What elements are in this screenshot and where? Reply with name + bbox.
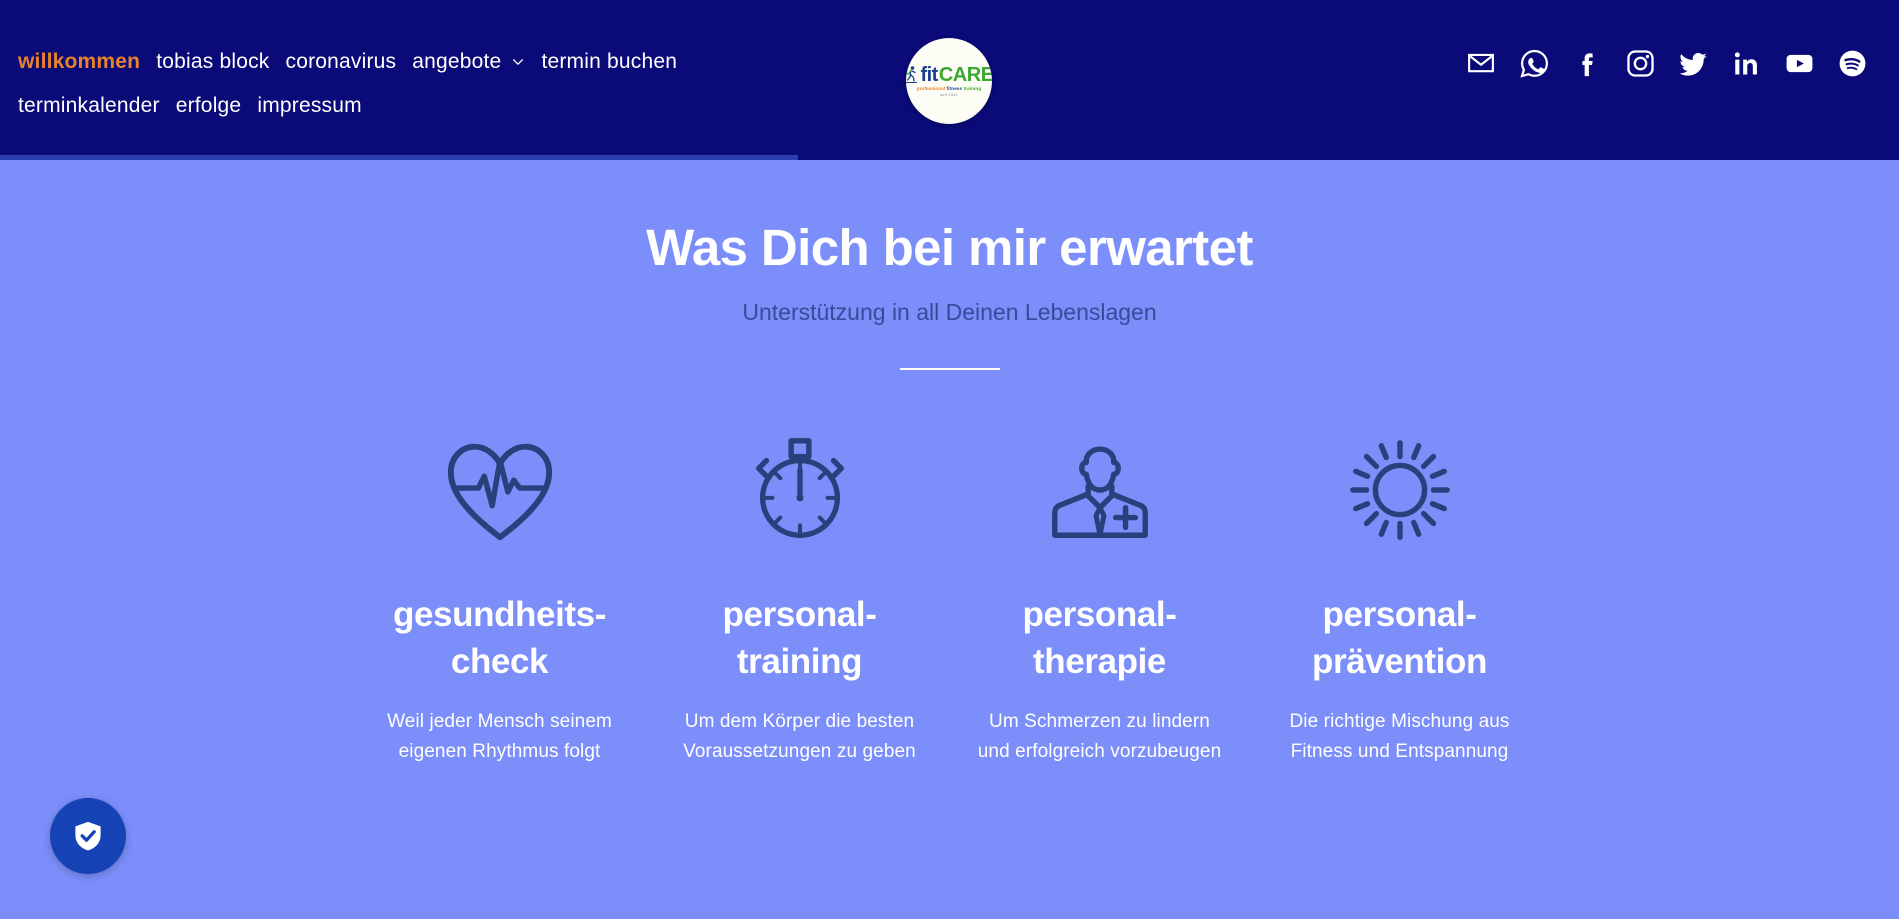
service-card-desc-line2: Fitness und Entspannung <box>1258 737 1542 767</box>
whatsapp-icon[interactable] <box>1517 46 1551 80</box>
service-card-personaltherapie[interactable]: personal- therapie Um Schmerzen zu linde… <box>950 420 1250 767</box>
logo-tagline-word1: professional <box>917 86 946 91</box>
top-navbar: willkommen tobias block coronavirus ange… <box>0 0 1899 160</box>
chevron-down-icon <box>511 55 525 69</box>
logo-content: fitCARE professional fitness training se… <box>910 65 988 98</box>
service-card-desc-line2: und erfolgreich vorzubeugen <box>958 737 1242 767</box>
service-card-title: personal- training <box>658 592 942 685</box>
social-links <box>1464 46 1869 80</box>
stopwatch-icon <box>658 420 942 560</box>
nav-link-angebote-label: angebote <box>412 40 501 84</box>
service-card-title-line1: personal- <box>658 592 942 639</box>
linkedin-icon[interactable] <box>1729 46 1763 80</box>
service-card-desc-line1: Weil jeder Mensch seinem <box>358 707 642 737</box>
service-card-desc-line1: Die richtige Mischung aus <box>1258 707 1542 737</box>
service-card-title: personal- therapie <box>958 592 1242 685</box>
service-card-personaltraining[interactable]: personal- training Um dem Körper die bes… <box>650 420 950 767</box>
email-icon[interactable] <box>1464 46 1498 80</box>
page-title: Was Dich bei mir erwartet <box>0 218 1899 277</box>
sun-icon <box>1258 420 1542 560</box>
service-card-description: Die richtige Mischung aus Fitness und En… <box>1258 707 1542 767</box>
title-divider <box>900 368 1000 370</box>
facebook-icon[interactable] <box>1570 46 1604 80</box>
heart-pulse-icon <box>358 420 642 560</box>
service-card-personalpraevention[interactable]: personal- prävention Die richtige Mischu… <box>1250 420 1550 767</box>
service-card-title: gesundheits- check <box>358 592 642 685</box>
logo-wordmark: fitCARE <box>910 65 988 85</box>
service-card-title-line1: personal- <box>1258 592 1542 639</box>
service-card-title-line1: gesundheits- <box>358 592 642 639</box>
spotify-icon[interactable] <box>1835 46 1869 80</box>
service-card-title-line2: training <box>658 639 942 686</box>
service-card-description: Weil jeder Mensch seinem eigenen Rhythmu… <box>358 707 642 767</box>
service-card-desc-line2: Voraussetzungen zu geben <box>658 737 942 767</box>
youtube-icon[interactable] <box>1782 46 1816 80</box>
service-card-title-line2: therapie <box>958 639 1242 686</box>
nav-link-erfolge[interactable]: erfolge <box>176 84 242 128</box>
logo-text-fit: fit <box>920 65 937 85</box>
runner-icon <box>906 65 919 85</box>
service-card-title-line2: prävention <box>1258 639 1542 686</box>
service-card-gesundheitscheck[interactable]: gesundheits- check Weil jeder Mensch sei… <box>350 420 650 767</box>
nav-link-tobias-block[interactable]: tobias block <box>156 40 269 84</box>
page-subtitle: Unterstützung in all Deinen Lebenslagen <box>0 299 1899 326</box>
logo-tagline-word3: training <box>964 86 982 91</box>
nav-link-angebote[interactable]: angebote <box>412 40 525 84</box>
service-card-title-line1: personal- <box>958 592 1242 639</box>
service-card-desc-line1: Um dem Körper die besten <box>658 707 942 737</box>
logo-tagline-word2: fitness <box>947 86 963 91</box>
site-logo[interactable]: fitCARE professional fitness training se… <box>906 38 992 124</box>
service-cards: gesundheits- check Weil jeder Mensch sei… <box>0 420 1899 767</box>
nav-link-willkommen[interactable]: willkommen <box>18 40 140 84</box>
nav-link-impressum[interactable]: impressum <box>257 84 361 128</box>
nav-link-terminkalender[interactable]: terminkalender <box>18 84 160 128</box>
service-card-title: personal- prävention <box>1258 592 1542 685</box>
service-card-desc-line1: Um Schmerzen zu lindern <box>958 707 1242 737</box>
service-card-description: Um Schmerzen zu lindern und erfolgreich … <box>958 707 1242 767</box>
main-content: Was Dich bei mir erwartet Unterstützung … <box>0 160 1899 919</box>
nav-link-termin-buchen[interactable]: termin buchen <box>541 40 677 84</box>
twitter-icon[interactable] <box>1676 46 1710 80</box>
service-card-description: Um dem Körper die besten Voraussetzungen… <box>658 707 942 767</box>
shield-check-icon <box>70 818 106 854</box>
service-card-desc-line2: eigenen Rhythmus folgt <box>358 737 642 767</box>
instagram-icon[interactable] <box>1623 46 1657 80</box>
nav-link-coronavirus[interactable]: coronavirus <box>286 40 397 84</box>
primary-navigation: willkommen tobias block coronavirus ange… <box>18 30 808 128</box>
service-card-title-line2: check <box>358 639 642 686</box>
logo-established: seit 2001 <box>910 93 988 97</box>
doctor-icon <box>958 420 1242 560</box>
logo-text-care: CARE <box>939 65 992 85</box>
logo-tagline: professional fitness training <box>910 87 988 92</box>
privacy-consent-button[interactable] <box>50 798 126 874</box>
